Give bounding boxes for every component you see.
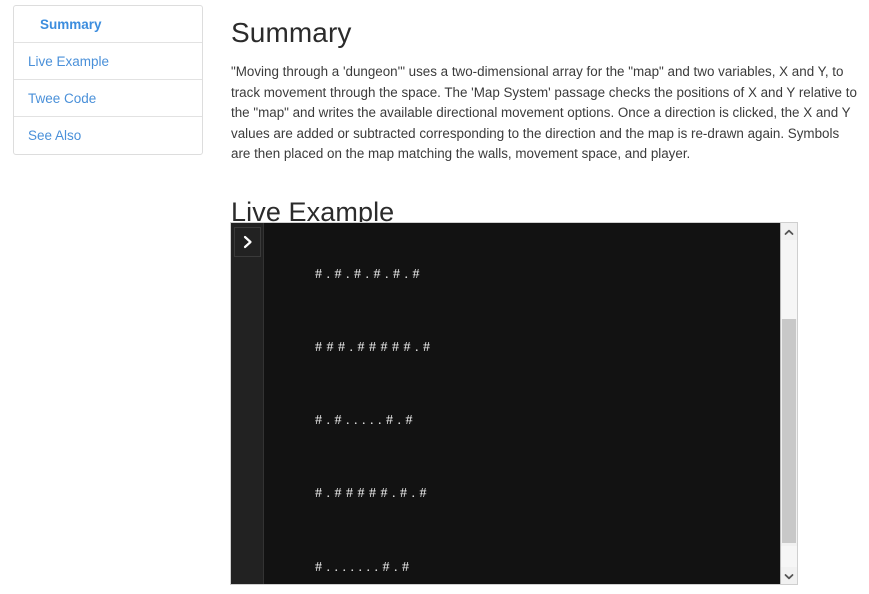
story-sidebar-rail	[231, 223, 264, 584]
sidebar-item-label: See Also	[28, 128, 81, 143]
map-row: # . # # # # # . # . #	[315, 482, 780, 506]
sidebar-nav: Summary Live Example Twee Code See Also	[13, 5, 203, 155]
map-row: # . . . . . . . # . #	[315, 556, 780, 580]
map-row: # . # . . . . . # . #	[315, 409, 780, 433]
story-passage: # . # . # . # . # . # # # # . # # # # # …	[264, 223, 780, 584]
chevron-right-icon	[242, 235, 254, 249]
story-viewport: # . # . # . # . # . # # # # . # # # # # …	[264, 223, 780, 584]
summary-paragraph: "Moving through a 'dungeon'" uses a two-…	[231, 62, 859, 165]
scrollbar-down-button[interactable]	[781, 567, 797, 584]
map-row: # . # . # . # . # . #	[315, 263, 780, 287]
main-content: Summary "Moving through a 'dungeon'" use…	[229, 0, 869, 594]
sidebar-item-label: Summary	[40, 17, 102, 32]
dungeon-map: # . # . # . # . # . # # # # . # # # # # …	[264, 223, 780, 584]
scrollbar-thumb[interactable]	[782, 319, 796, 543]
scrollbar-up-button[interactable]	[781, 223, 797, 240]
sidebar-item-label: Twee Code	[28, 91, 96, 106]
sidebar-item-twee-code[interactable]: Twee Code	[14, 80, 202, 117]
sidebar-toggle-button[interactable]	[234, 227, 261, 257]
map-row: # # # . # # # # # . #	[315, 336, 780, 360]
chevron-up-icon	[784, 223, 794, 241]
scrollbar-track-upper[interactable]	[781, 240, 797, 319]
sidebar-item-live-example[interactable]: Live Example	[14, 43, 202, 80]
sidebar-item-see-also[interactable]: See Also	[14, 117, 202, 154]
page-title: Summary	[231, 17, 869, 49]
scrollbar-track-lower[interactable]	[781, 546, 797, 567]
story-scrollbar[interactable]	[780, 223, 797, 584]
live-example-frame: # . # . # . # . # . # # # # . # # # # # …	[230, 222, 798, 585]
sidebar-item-label: Live Example	[28, 54, 109, 69]
chevron-down-icon	[784, 567, 794, 585]
sidebar-item-summary[interactable]: Summary	[14, 6, 202, 43]
